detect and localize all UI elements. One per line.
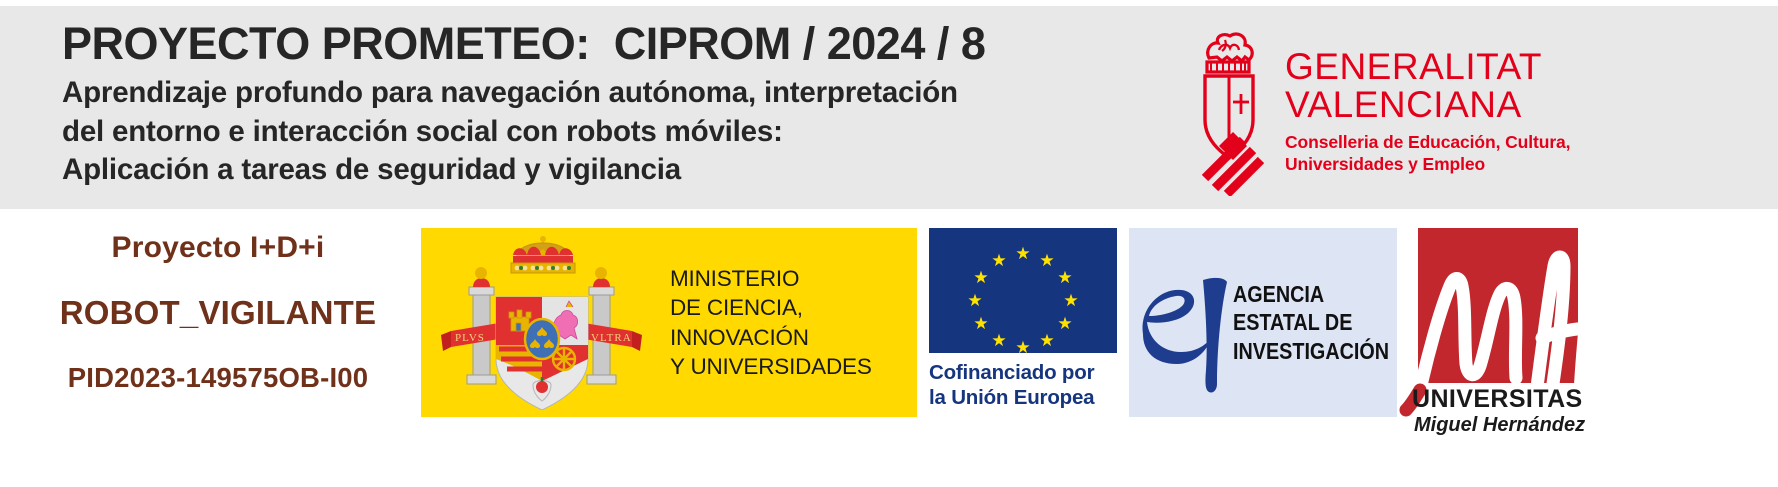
- ministerio-line-3: Y UNIVERSIDADES: [670, 352, 917, 381]
- svg-text:VLTRA: VLTRA: [591, 332, 632, 344]
- european-union-logo: ★ ★ ★ ★ ★ ★ ★ ★ ★ ★ ★ ★ Cofinanciado por…: [929, 228, 1117, 428]
- ministerio-logo: PLVS VLTRA: [421, 228, 917, 417]
- ministerio-line-1: MINISTERIO: [670, 264, 917, 293]
- poster-root: PROYECTO PROMETEO: CIPROM / 2024 / 8 Apr…: [0, 0, 1778, 487]
- aei-line-3: INVESTIGACIÓN: [1233, 337, 1389, 365]
- generalitat-name-line-2: VALENCIANA: [1285, 86, 1570, 124]
- agencia-estatal-investigacion-logo: AGENCIA ESTATAL DE INVESTIGACIÓN: [1129, 228, 1397, 417]
- umh-universitas-label: UNIVERSITAS: [1412, 385, 1583, 414]
- page-title: PROYECTO PROMETEO: CIPROM / 2024 / 8: [62, 20, 1115, 67]
- project-reference-code: PID2023-149575OB-I00: [28, 362, 408, 394]
- generalitat-shield-icon: [1185, 28, 1271, 196]
- eu-caption: Cofinanciado por la Unión Europea: [929, 360, 1117, 410]
- project-id-block: Proyecto I+D+i ROBOT_VIGILANTE PID2023-1…: [28, 231, 408, 394]
- project-type-label: Proyecto I+D+i: [28, 231, 408, 265]
- funders-row: Proyecto I+D+i ROBOT_VIGILANTE PID2023-1…: [0, 209, 1778, 487]
- subtitle-line-1: Aprendizaje profundo para navegación aut…: [62, 74, 1115, 112]
- generalitat-name-line-1: GENERALITAT: [1285, 48, 1570, 86]
- aei-line-1: AGENCIA: [1233, 280, 1389, 308]
- generalitat-name: GENERALITAT VALENCIANA: [1285, 48, 1570, 123]
- generalitat-text-block: GENERALITAT VALENCIANA Conselleria de Ed…: [1271, 28, 1570, 175]
- aei-text-block: AGENCIA ESTATAL DE INVESTIGACIÓN: [1233, 280, 1389, 364]
- project-banner: PROYECTO PROMETEO: CIPROM / 2024 / 8 Apr…: [0, 6, 1778, 209]
- project-subtitle: Aprendizaje profundo para navegación aut…: [62, 74, 1115, 189]
- eu-caption-line-1: Cofinanciado por: [929, 360, 1117, 385]
- ministerio-line-2: DE CIENCIA, INNOVACIÓN: [670, 293, 917, 352]
- umh-logo: UNIVERSITAS Miguel Hernández: [1412, 228, 1752, 478]
- spanish-coat-of-arms-icon: PLVS VLTRA: [421, 235, 666, 410]
- ministerio-text-block: MINISTERIO DE CIENCIA, INNOVACIÓN Y UNIV…: [670, 264, 917, 381]
- subtitle-line-2: del entorno e interacción social con rob…: [62, 113, 1115, 151]
- subtitle-line-3: Aplicación a tareas de seguridad y vigil…: [62, 151, 1115, 189]
- banner-text-block: PROYECTO PROMETEO: CIPROM / 2024 / 8 Apr…: [0, 6, 1115, 189]
- generalitat-department-line-2: Universidades y Empleo: [1285, 154, 1570, 175]
- eu-flag-icon: ★ ★ ★ ★ ★ ★ ★ ★ ★ ★ ★ ★: [929, 228, 1117, 353]
- project-acronym: ROBOT_VIGILANTE: [28, 294, 408, 332]
- svg-text:PLVS: PLVS: [455, 332, 485, 344]
- aei-monogram-icon: [1129, 248, 1233, 398]
- aei-line-2: ESTATAL DE: [1233, 308, 1389, 336]
- umh-name-label: Miguel Hernández: [1414, 414, 1585, 437]
- eu-caption-line-2: la Unión Europea: [929, 385, 1117, 410]
- generalitat-department-line-1: Conselleria de Educación, Cultura,: [1285, 132, 1570, 153]
- generalitat-valenciana-logo: GENERALITAT VALENCIANA Conselleria de Ed…: [1185, 28, 1765, 208]
- generalitat-department: Conselleria de Educación, Cultura, Unive…: [1285, 132, 1570, 175]
